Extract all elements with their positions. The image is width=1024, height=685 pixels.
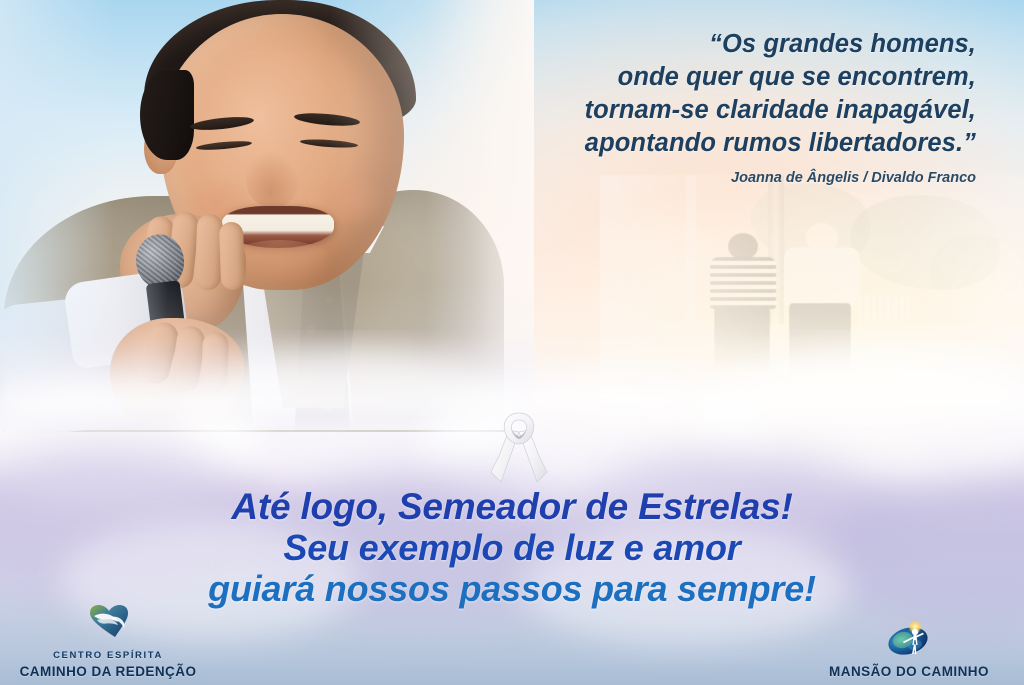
headline-line-2: Seu exemplo de luz e amor <box>0 527 1024 568</box>
headline-line-1: Até logo, Semeador de Estrelas! <box>0 486 1024 527</box>
logo-centro-espirita-caminho-da-redencao: CENTRO ESPÍRITA CAMINHO DA REDENÇÃO <box>8 604 208 681</box>
heart-with-hands-logo-icon <box>8 604 208 643</box>
quote-line-3: tornam-se claridade inapagável, <box>336 94 976 127</box>
quote-line-4: apontando rumos libertadores.” <box>336 127 976 160</box>
memorial-poster: “Os grandes homens, onde quer que se enc… <box>0 0 1024 685</box>
logo-right-line-1: MANSÃO DO CAMINHO <box>829 664 989 679</box>
white-mourning-ribbon-icon <box>487 410 551 486</box>
headline-line-3: guiará nossos passos para sempre! <box>0 568 1024 609</box>
globe-with-figure-logo-icon <box>804 620 1014 661</box>
logo-mansao-do-caminho: MANSÃO DO CAMINHO <box>804 620 1014 681</box>
logo-left-line-2: CAMINHO DA REDENÇÃO <box>20 664 197 679</box>
quote-line-1: “Os grandes homens, <box>336 28 976 61</box>
quote-text: “Os grandes homens, onde quer que se enc… <box>336 28 976 160</box>
headline: Até logo, Semeador de Estrelas! Seu exem… <box>0 486 1024 609</box>
quote-author: Joanna de Ângelis / Divaldo Franco <box>336 170 976 186</box>
quote-line-2: onde quer que se encontrem, <box>336 61 976 94</box>
logo-left-line-1: CENTRO ESPÍRITA <box>53 650 163 661</box>
